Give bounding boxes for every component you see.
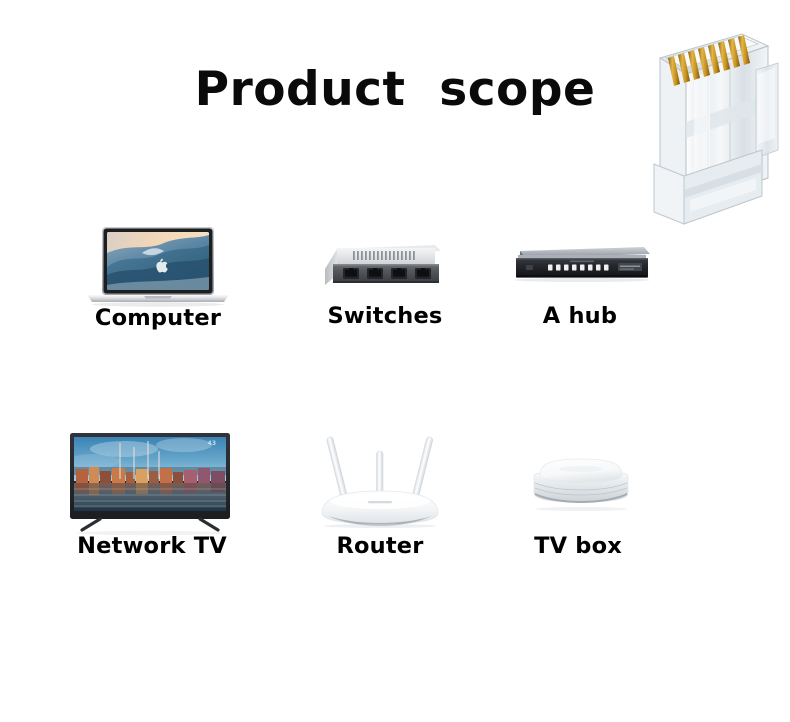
set-top-box-icon <box>526 447 636 517</box>
product-grid: Computer <box>40 205 660 595</box>
product-label-computer: Computer <box>58 305 258 331</box>
product-art-tv-box <box>478 417 678 527</box>
product-label-tv-box: TV box <box>478 533 678 559</box>
product-label-network-tv: Network TV <box>52 533 252 559</box>
product-item-a-hub: A hub <box>480 205 680 380</box>
laptop-icon <box>82 223 234 307</box>
product-item-tv-box: TV box <box>478 417 678 592</box>
tv-size-badge: 43 <box>208 440 216 447</box>
product-label-router: Router <box>280 533 480 559</box>
product-item-network-tv: 43 Network TV <box>52 417 252 592</box>
product-item-router: Router <box>280 417 480 592</box>
product-art-computer <box>58 205 258 315</box>
product-label-switches: Switches <box>285 303 485 329</box>
product-label-a-hub: A hub <box>480 303 680 329</box>
network-switch-icon <box>323 235 445 291</box>
wifi-router-icon <box>310 421 450 529</box>
product-art-network-tv: 43 <box>52 417 252 527</box>
product-scope-page: Product scope <box>0 0 790 722</box>
product-item-switches: Switches <box>285 205 485 380</box>
product-art-router <box>280 417 480 527</box>
product-item-computer: Computer <box>58 205 258 380</box>
rj45-latch-tab <box>756 63 778 158</box>
product-art-switches <box>285 205 485 315</box>
television-icon: 43 <box>64 427 239 537</box>
tv-legs <box>82 519 218 530</box>
network-hub-icon <box>508 239 654 287</box>
product-art-a-hub <box>480 205 680 315</box>
